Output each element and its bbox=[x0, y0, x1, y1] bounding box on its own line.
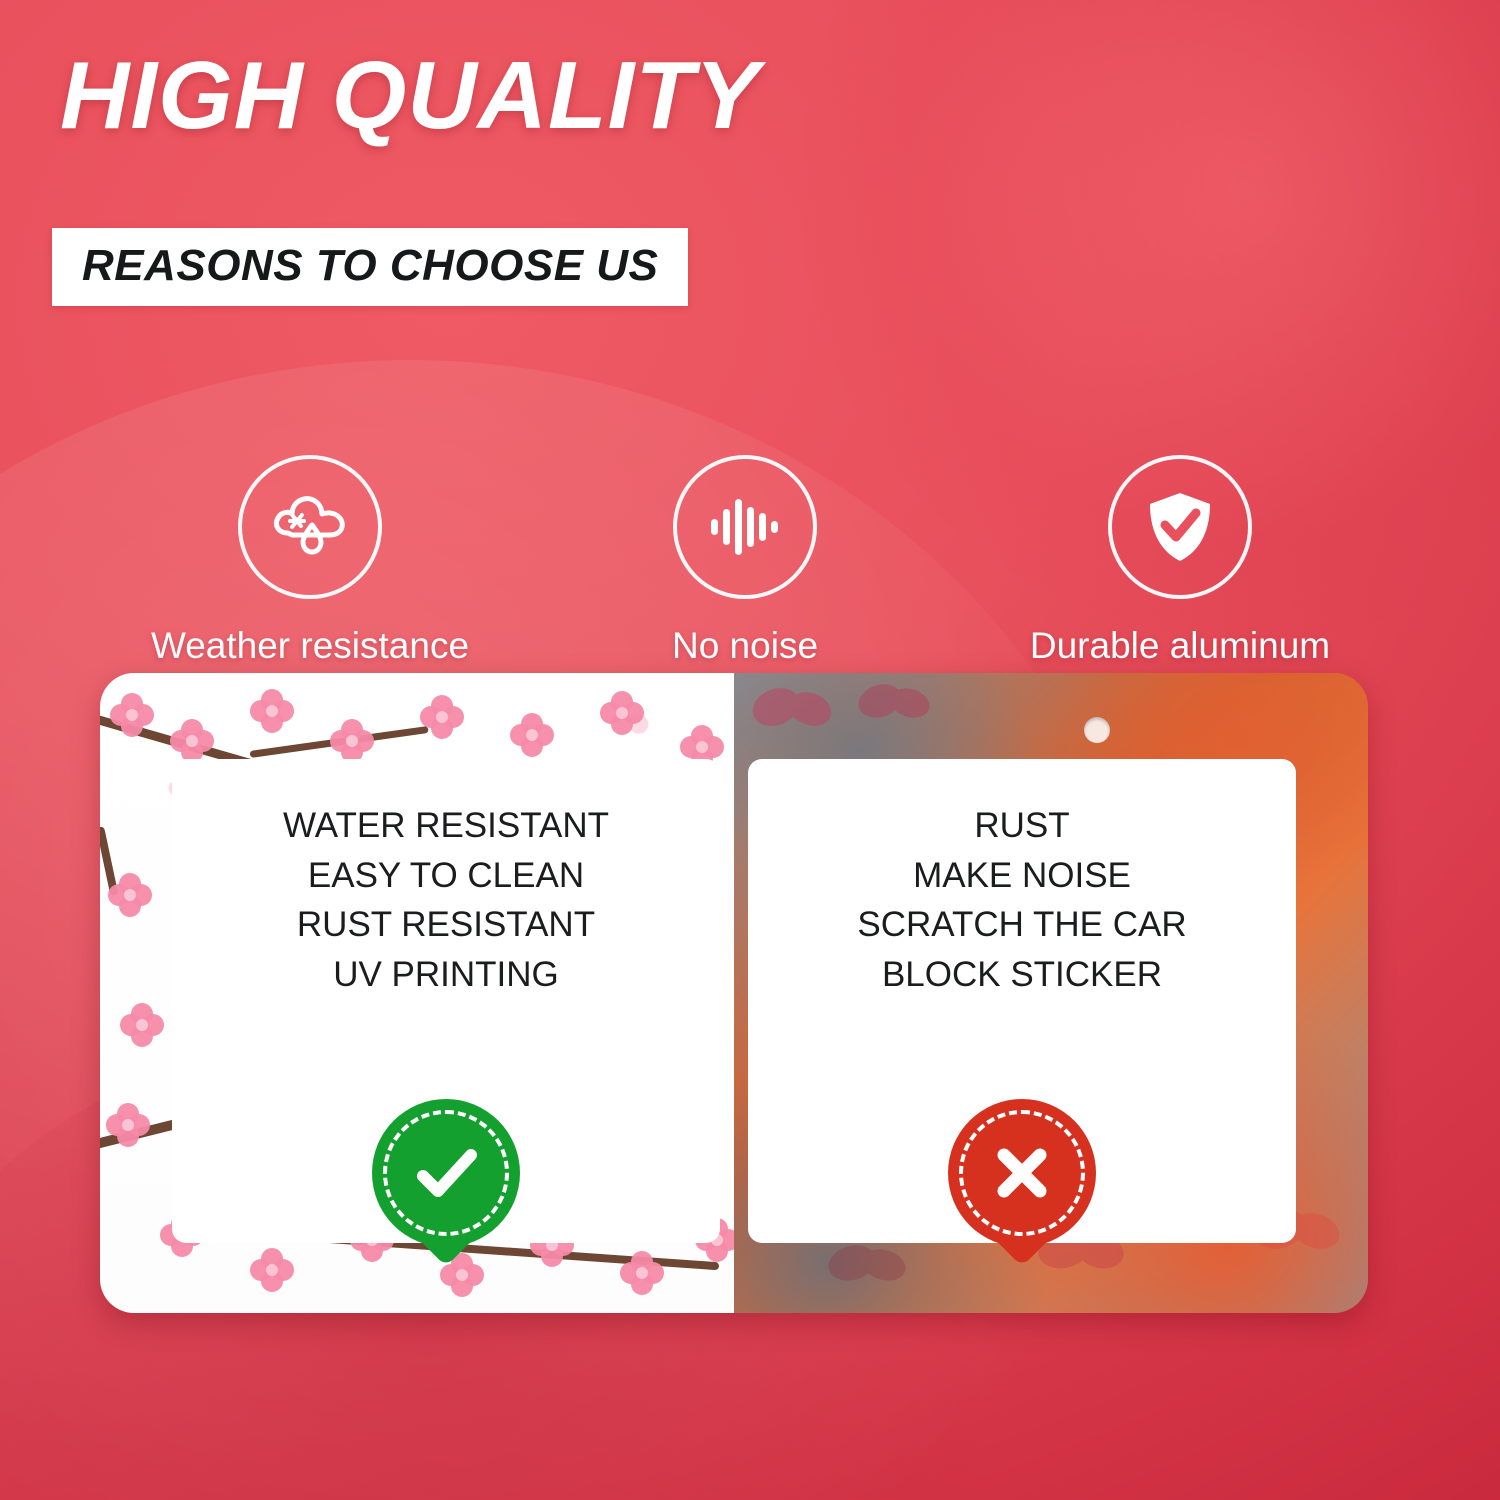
subhead-banner: REASONS TO CHOOSE US bbox=[52, 228, 688, 306]
butterfly-decoration bbox=[748, 681, 838, 751]
blossom-decoration bbox=[110, 693, 154, 737]
mounting-hole bbox=[1084, 717, 1110, 743]
weather-cloud-icon bbox=[238, 455, 382, 599]
blossom-decoration bbox=[108, 873, 152, 917]
good-features-list: WATER RESISTANT EASY TO CLEAN RUST RESIS… bbox=[172, 801, 720, 1000]
feature-weather-resistance: Weather resistance bbox=[100, 455, 520, 667]
blossom-decoration bbox=[120, 1003, 164, 1047]
feature-label: Weather resistance bbox=[151, 625, 469, 667]
blossom-decoration bbox=[420, 695, 464, 739]
feature-durable-aluminum: Durable aluminum bbox=[970, 455, 1390, 667]
list-item: MAKE NOISE bbox=[748, 851, 1296, 901]
feature-no-noise: No noise bbox=[535, 455, 955, 667]
blossom-decoration bbox=[330, 719, 374, 763]
shield-check-icon bbox=[1108, 455, 1252, 599]
list-item: UV PRINTING bbox=[172, 950, 720, 1000]
check-pin-icon bbox=[372, 1099, 520, 1257]
list-item: SCRATCH THE CAR bbox=[748, 900, 1296, 950]
feature-row: Weather resistance No noise bbox=[100, 455, 1390, 667]
page-title: HIGH QUALITY bbox=[60, 46, 760, 147]
blossom-decoration bbox=[250, 689, 294, 733]
list-item: RUST bbox=[748, 801, 1296, 851]
sound-wave-icon bbox=[673, 455, 817, 599]
blossom-decoration bbox=[106, 1103, 150, 1147]
butterfly-decoration bbox=[824, 1237, 910, 1303]
blossom-decoration bbox=[620, 1251, 664, 1295]
list-item: RUST RESISTANT bbox=[172, 900, 720, 950]
blossom-decoration bbox=[600, 691, 644, 735]
promo-banner: HIGH QUALITY REASONS TO CHOOSE US bbox=[0, 0, 1500, 1500]
list-item: WATER RESISTANT bbox=[172, 801, 720, 851]
butterfly-decoration bbox=[854, 677, 934, 739]
list-item: EASY TO CLEAN bbox=[172, 851, 720, 901]
feature-label: No noise bbox=[672, 625, 818, 667]
cross-pin-icon bbox=[948, 1099, 1096, 1257]
subhead-text: REASONS TO CHOOSE US bbox=[82, 244, 658, 288]
license-plate-frame-comparison: WATER RESISTANT EASY TO CLEAN RUST RESIS… bbox=[100, 673, 1368, 1313]
good-features-card: WATER RESISTANT EASY TO CLEAN RUST RESIS… bbox=[172, 759, 720, 1243]
blossom-decoration bbox=[250, 1248, 294, 1292]
bad-features-card: RUST MAKE NOISE SCRATCH THE CAR BLOCK ST… bbox=[748, 759, 1296, 1243]
plate-half-bad: RUST MAKE NOISE SCRATCH THE CAR BLOCK ST… bbox=[734, 673, 1368, 1313]
feature-label: Durable aluminum bbox=[1030, 625, 1330, 667]
bad-features-list: RUST MAKE NOISE SCRATCH THE CAR BLOCK ST… bbox=[748, 801, 1296, 1000]
list-item: BLOCK STICKER bbox=[748, 950, 1296, 1000]
blossom-decoration bbox=[510, 713, 554, 757]
plate-half-good: WATER RESISTANT EASY TO CLEAN RUST RESIS… bbox=[100, 673, 734, 1313]
blossom-decoration bbox=[170, 719, 214, 763]
